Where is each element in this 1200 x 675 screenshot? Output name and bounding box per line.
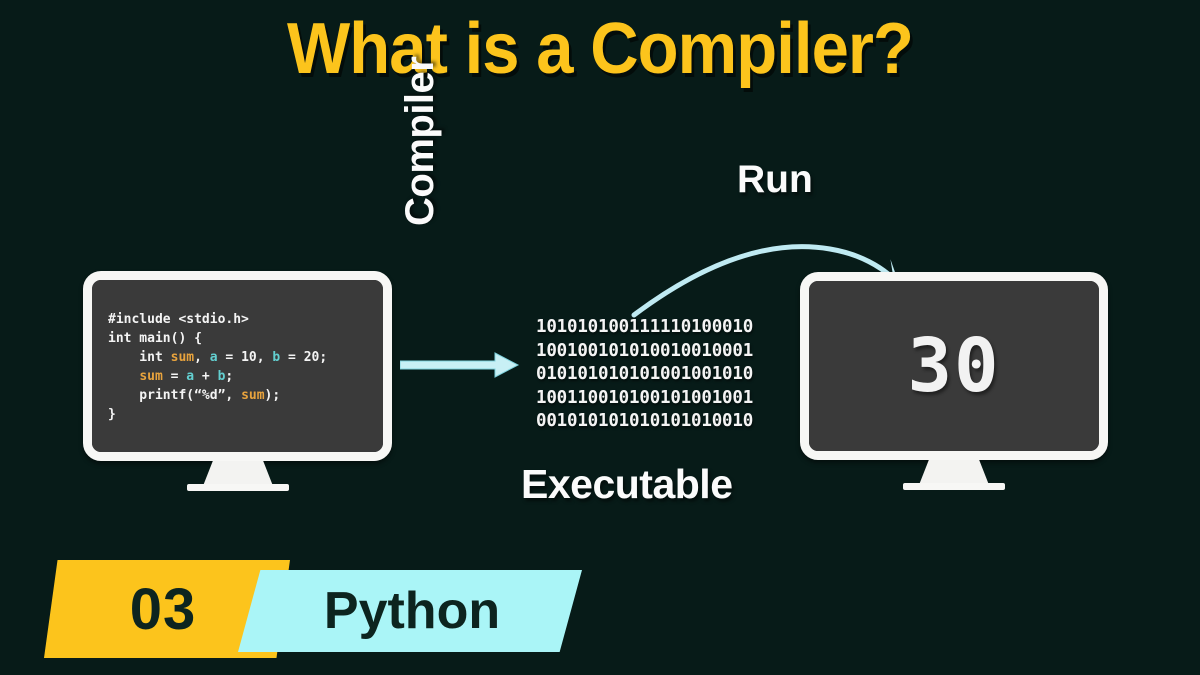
code-line: }	[108, 405, 327, 424]
program-output-monitor: 30	[800, 272, 1108, 460]
code-line: int sum, a = 10, b = 20;	[108, 348, 327, 367]
executable-label: Executable	[521, 461, 733, 508]
code-token: sum	[241, 388, 264, 403]
binary-line: 100100101010010010001	[536, 340, 753, 364]
code-token: = 20;	[280, 350, 327, 365]
code-line: printf(“%d”, sum);	[108, 386, 327, 405]
monitor-screen: #include <stdio.h>int main() { int sum, …	[92, 280, 383, 452]
code-token: }	[108, 407, 116, 422]
code-token: );	[265, 388, 281, 403]
banner-language: Python	[238, 570, 582, 652]
monitor-stand-foot	[903, 483, 1005, 490]
code-token: +	[194, 369, 217, 384]
run-label: Run	[737, 158, 813, 202]
code-line: sum = a + b;	[108, 367, 327, 386]
code-token: #include <stdio.h>	[108, 312, 249, 327]
banner-language-text: Python	[324, 581, 500, 641]
code-token: a	[210, 350, 218, 365]
code-token: = 10,	[218, 350, 273, 365]
source-code-monitor: #include <stdio.h>int main() { int sum, …	[83, 271, 392, 461]
code-line: #include <stdio.h>	[108, 310, 327, 329]
code-token: ;	[225, 369, 233, 384]
banner-number-text: 03	[130, 576, 197, 643]
binary-line: 001010101010101010010	[536, 410, 753, 434]
bottom-banner: 03 Python	[0, 560, 620, 658]
binary-line: 100110010100101001001	[536, 387, 753, 411]
arrow-right-icon	[400, 350, 520, 380]
code-token: a	[186, 369, 194, 384]
output-value: 30	[809, 281, 1099, 451]
code-line: int main() {	[108, 329, 327, 348]
binary-line: 010101010101001001010	[536, 363, 753, 387]
code-token: int main() {	[108, 331, 202, 346]
compiler-label: Compiler	[398, 0, 443, 226]
code-token: int	[108, 350, 171, 365]
monitor-stand-foot	[187, 484, 289, 491]
code-token: sum	[171, 350, 194, 365]
monitor-stand-neck	[203, 461, 273, 486]
code-token: sum	[139, 369, 162, 384]
code-token	[108, 369, 139, 384]
slide-canvas: What is a Compiler? #include <stdio.h>in…	[0, 0, 1200, 675]
code-token: printf(“%d”,	[108, 388, 241, 403]
monitor-screen: 30	[809, 281, 1099, 451]
executable-binary-text: 1010101001111101000101001001010100100100…	[536, 316, 753, 434]
code-token: ,	[194, 350, 210, 365]
monitor-stand-neck	[919, 460, 989, 485]
page-title: What is a Compiler?	[42, 8, 1158, 90]
source-code-text: #include <stdio.h>int main() { int sum, …	[108, 310, 327, 424]
code-token: =	[163, 369, 186, 384]
